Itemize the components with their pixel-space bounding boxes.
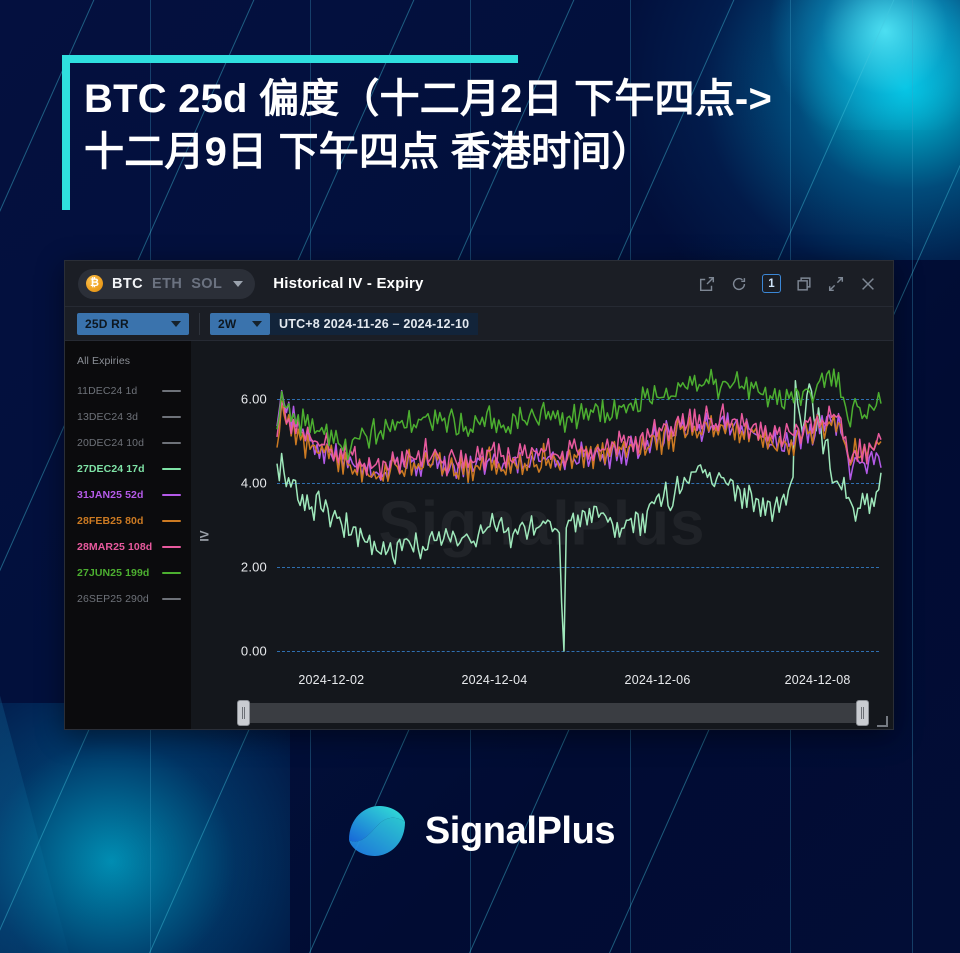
metric-dropdown[interactable]: 25D RR <box>77 313 189 335</box>
toolbar-divider <box>199 313 200 335</box>
asset-tab-btc[interactable]: BTC <box>112 276 143 292</box>
metric-group: 25D RR <box>71 307 195 340</box>
legend-item[interactable]: 27DEC24 17d <box>65 456 191 482</box>
legend-item-label: 27DEC24 17d <box>77 463 145 475</box>
legend-color-swatch <box>162 546 181 549</box>
legend-item[interactable]: 28MAR25 108d <box>65 534 191 560</box>
legend-color-swatch <box>162 572 181 575</box>
legend-item[interactable]: 28FEB25 80d <box>65 508 191 534</box>
legend-item-label: 13DEC24 3d <box>77 411 138 423</box>
period-dropdown[interactable]: 2W <box>210 313 270 335</box>
legend-item-label: 11DEC24 1d <box>77 385 137 397</box>
window-title: Historical IV - Expiry <box>273 275 423 292</box>
asset-tab-sol[interactable]: SOL <box>191 276 222 292</box>
legend-item-label: 27JUN25 199d <box>77 567 149 579</box>
legend-item-label: 20DEC24 10d <box>77 437 144 449</box>
range-scrollbar[interactable] <box>243 703 863 723</box>
x-axis-tick: 2024-12-08 <box>785 673 851 687</box>
accent-bar-top <box>62 55 518 63</box>
chevron-down-icon[interactable] <box>233 281 243 287</box>
external-link-icon[interactable] <box>698 275 716 293</box>
legend-sidebar: All Expiries 11DEC24 1d13DEC24 3d20DEC24… <box>65 341 191 730</box>
series-plot <box>191 341 894 730</box>
legend-color-swatch <box>162 416 181 419</box>
window-icon-toolbar: 1 <box>698 274 883 293</box>
asset-tab-eth[interactable]: ETH <box>152 276 182 292</box>
legend-item-label: 28MAR25 108d <box>77 541 152 553</box>
metric-dropdown-label: 25D RR <box>85 317 129 331</box>
date-range-label[interactable]: UTC+8 2024-11-26 – 2024-12-10 <box>270 313 478 335</box>
legend-item-label: 28FEB25 80d <box>77 515 143 527</box>
brand-name: SignalPlus <box>425 810 615 853</box>
x-axis-tick: 2024-12-02 <box>298 673 364 687</box>
legend-item[interactable]: 11DEC24 1d <box>65 378 191 404</box>
legend-item[interactable]: 13DEC24 3d <box>65 404 191 430</box>
legend-color-swatch <box>162 494 181 497</box>
page-badge-icon[interactable]: 1 <box>762 274 781 293</box>
period-dropdown-label: 2W <box>218 317 236 331</box>
scrollbar-track[interactable] <box>243 703 863 723</box>
legend-item[interactable]: 31JAN25 52d <box>65 482 191 508</box>
chart-window: ₿ BTC ETH SOL Historical IV - Expiry 1 <box>64 260 894 730</box>
legend-color-swatch <box>162 468 181 471</box>
legend-item-label: 26SEP25 290d <box>77 593 149 605</box>
x-axis-tick: 2024-12-06 <box>625 673 691 687</box>
chevron-down-icon <box>252 321 262 327</box>
legend-item-label: 31JAN25 52d <box>77 489 143 501</box>
x-axis-tick: 2024-12-04 <box>461 673 527 687</box>
range-handle-left[interactable] <box>237 700 250 726</box>
plot-area: IV SignalPlus 0.002.004.006.00 2024-12-0… <box>191 341 893 730</box>
page-title-line2: 十二月9日 下午四点 香港时间） <box>84 130 652 174</box>
legend-list: 11DEC24 1d13DEC24 3d20DEC24 10d27DEC24 1… <box>65 378 191 612</box>
duplicate-icon[interactable] <box>795 275 813 293</box>
page-title: BTC 25d 偏度（十二月2日 下午四点-> 十二月9日 下午四点 香港时间） <box>84 55 922 179</box>
legend-item[interactable]: 26SEP25 290d <box>65 586 191 612</box>
window-toolbar: 25D RR 2W UTC+8 2024-11-26 – 2024-12-10 <box>65 307 893 341</box>
bitcoin-coin-icon: ₿ <box>86 275 103 292</box>
expand-icon[interactable] <box>827 275 845 293</box>
legend-color-swatch <box>162 520 181 523</box>
footer-branding: SignalPlus <box>0 800 960 862</box>
legend-color-swatch <box>162 442 181 445</box>
legend-color-swatch <box>162 390 181 393</box>
window-body: All Expiries 11DEC24 1d13DEC24 3d20DEC24… <box>65 341 893 730</box>
resize-grip-icon[interactable] <box>877 716 888 727</box>
legend-item[interactable]: 27JUN25 199d <box>65 560 191 586</box>
signalplus-logo-icon <box>345 800 409 862</box>
page-title-block: BTC 25d 偏度（十二月2日 下午四点-> 十二月9日 下午四点 香港时间） <box>62 55 922 179</box>
legend-header: All Expiries <box>65 355 191 378</box>
refresh-icon[interactable] <box>730 275 748 293</box>
chevron-down-icon <box>171 321 181 327</box>
close-icon[interactable] <box>859 275 877 293</box>
range-group: 2W UTC+8 2024-11-26 – 2024-12-10 <box>204 307 484 340</box>
series-line <box>277 381 881 651</box>
legend-color-swatch <box>162 598 181 601</box>
legend-item[interactable]: 20DEC24 10d <box>65 430 191 456</box>
page-title-line1: BTC 25d 偏度（十二月2日 下午四点-> <box>84 77 772 121</box>
accent-bar-left <box>62 55 70 210</box>
asset-selector[interactable]: ₿ BTC ETH SOL <box>78 269 255 299</box>
range-handle-right[interactable] <box>856 700 869 726</box>
window-titlebar: ₿ BTC ETH SOL Historical IV - Expiry 1 <box>65 261 893 307</box>
